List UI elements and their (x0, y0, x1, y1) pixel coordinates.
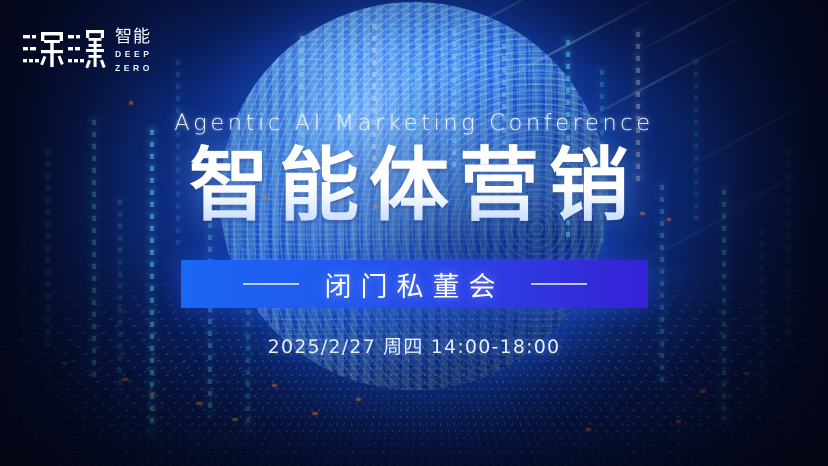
brand-name-en-line2: ZERO (115, 62, 153, 74)
brand-logo-text: 智能 DEEP ZERO (115, 26, 153, 75)
ribbon-dash-right (531, 283, 587, 285)
deepzero-logomark-icon (22, 26, 106, 74)
event-datetime: 2025/2/27 周四 14:00-18:00 (0, 332, 828, 359)
event-poster: 智能 DEEP ZERO Agentic AI Marketing Confer… (0, 0, 828, 466)
brand-name-cn: 智能 (115, 29, 153, 46)
event-title: 智能体营销 (0, 142, 828, 230)
brand-name-en-line1: DEEP (115, 48, 153, 60)
brand-logo[interactable]: 智能 DEEP ZERO (22, 26, 153, 75)
ribbon-dash-left (243, 283, 299, 285)
event-subtitle-ribbon: 闭门私董会 (181, 260, 648, 308)
event-subtitle: 闭门私董会 (325, 265, 505, 304)
event-eyebrow: Agentic AI Marketing Conference (0, 110, 828, 136)
